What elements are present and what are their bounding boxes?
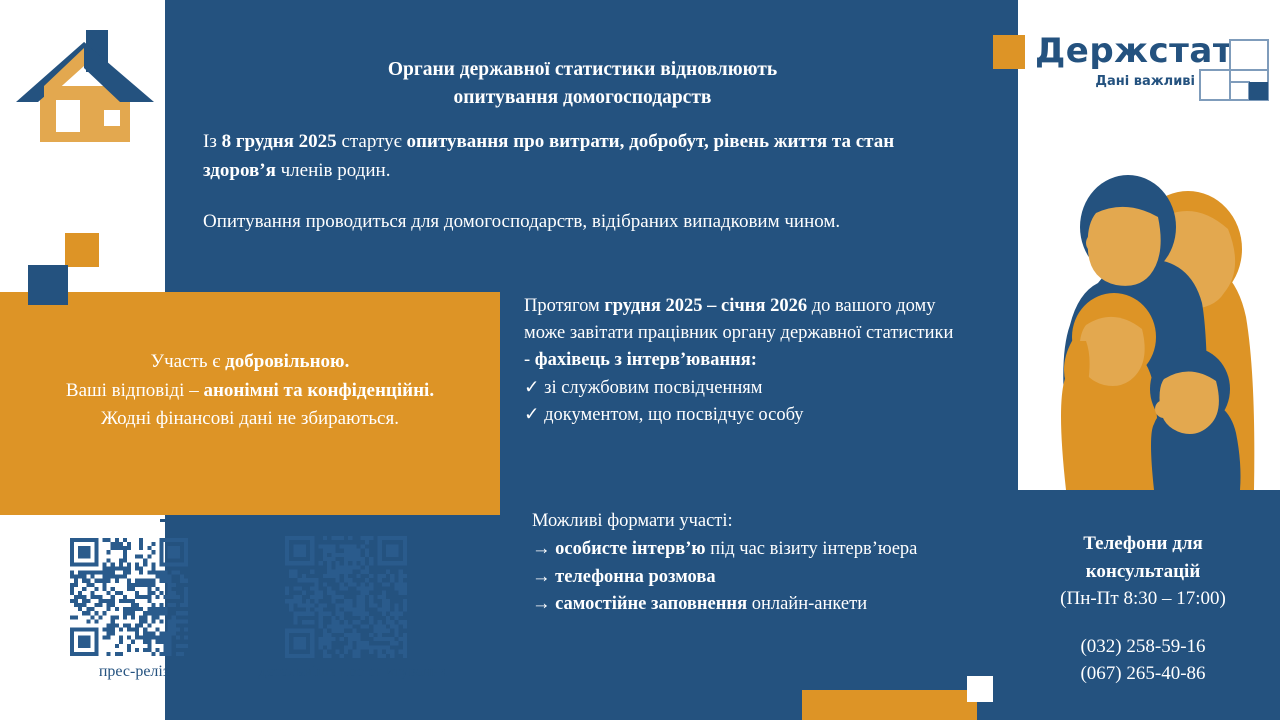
format-item-2-bold: телефонна розмова [555,567,715,587]
intro-middle: стартує [337,131,407,152]
intro-paragraph: Із 8 грудня 2025 стартує опитування про … [203,128,913,186]
logo-tagline: Дані важливі [1035,74,1195,89]
interviewer-visit-text: Протягом грудня 2025 – січня 2026 до ваш… [524,293,954,429]
intro-prefix: Із [203,131,222,152]
voluntary-line-2-prefix: Ваші відповіді – [66,380,204,401]
decor-orange-square-left [65,233,99,267]
phones-hours: (Пн-Пт 8:30 – 17:00) [1018,585,1268,613]
intro-suffix: членів родин. [276,160,391,181]
visit-check-label-1: зі службовим посвідченням [544,378,762,398]
check-icon: ✓ [524,405,540,425]
qr-code-press-release[interactable] [70,538,188,661]
house-icon [12,18,157,158]
consultation-phones: Телефони для консультацій (Пн-Пт 8:30 – … [1018,530,1268,688]
format-item-1: → особисте інтерв’ю під час візиту інтер… [532,536,977,564]
decor-orange-bar-bottom [802,690,977,720]
headline-line-2: опитування домогосподарств [210,84,955,112]
headline-line-1: Органи державної статистики відновлюють [210,56,955,84]
format-item-3: → самостійне заповнення онлайн-анкети [532,591,977,619]
phones-title-line-1: Телефони для [1018,530,1268,558]
visit-check-item-1: ✓ зі службовим посвідченням [524,375,954,402]
derzhstat-logo: Держстат Дані важливі [1035,34,1275,106]
voluntary-line-2: Ваші відповіді – анонімні та конфіденцій… [10,377,490,406]
voluntary-line-1-bold: добровільною. [225,351,349,372]
right-blue-strip [1000,0,1018,510]
format-item-1-bold: особисте інтерв’ю [555,539,705,559]
qr-code-survey-details[interactable] [285,536,407,663]
intro-start-date: 8 грудня 2025 [222,131,337,152]
visit-role: фахівець з інтерв’ювання: [535,350,757,370]
format-item-1-rest: під час візиту інтерв’юера [706,539,918,559]
visit-prefix: Протягом [524,296,604,316]
family-icon [1020,165,1280,490]
arrow-icon: → [532,594,551,614]
format-item-2: → телефонна розмова [532,564,977,592]
voluntary-line-1-prefix: Участь є [151,351,226,372]
format-item-3-rest: онлайн-анкети [747,594,867,614]
logo-grid-mark [1198,38,1270,111]
poster-canvas: Держстат Дані важливі Органи державної с… [0,0,1280,720]
phones-spacer [1018,613,1268,633]
voluntary-text: Участь є добровільною. Ваші відповіді – … [10,348,490,434]
format-item-3-bold: самостійне заповнення [555,594,747,614]
phone-number-2[interactable]: (067) 265-40-86 [1018,660,1268,688]
visit-check-label-2: документом, що посвідчує особу [544,405,803,425]
participation-formats: Можливі формати участі: → особисте інтер… [532,508,977,619]
decor-white-square-bottom [967,676,993,702]
qr-caption-survey-details: детальніше про опитування [253,662,453,682]
formats-title: Можливі формати участі: [532,508,977,536]
decor-blue-square-left [28,265,68,305]
voluntary-line-3: Жодні фінансові дані не збираються. [10,405,490,434]
voluntary-line-2-bold: анонімні та конфіденційні. [203,380,434,401]
decor-orange-square-logo [993,35,1025,69]
divider-rule [160,519,500,522]
random-selection-paragraph: Опитування проводиться для домогосподарс… [203,208,918,237]
phone-number-1[interactable]: (032) 258-59-16 [1018,633,1268,661]
voluntary-line-1: Участь є добровільною. [10,348,490,377]
visit-check-item-2: ✓ документом, що посвідчує особу [524,402,954,429]
phones-title-line-2: консультацій [1018,558,1268,586]
check-icon: ✓ [524,378,540,398]
arrow-icon: → [532,567,551,587]
page-title: Органи державної статистики відновлюють … [210,56,955,111]
visit-period: грудня 2025 – січня 2026 [604,296,807,316]
qr-caption-press-release: прес-реліз [44,662,224,682]
arrow-icon: → [532,539,551,559]
